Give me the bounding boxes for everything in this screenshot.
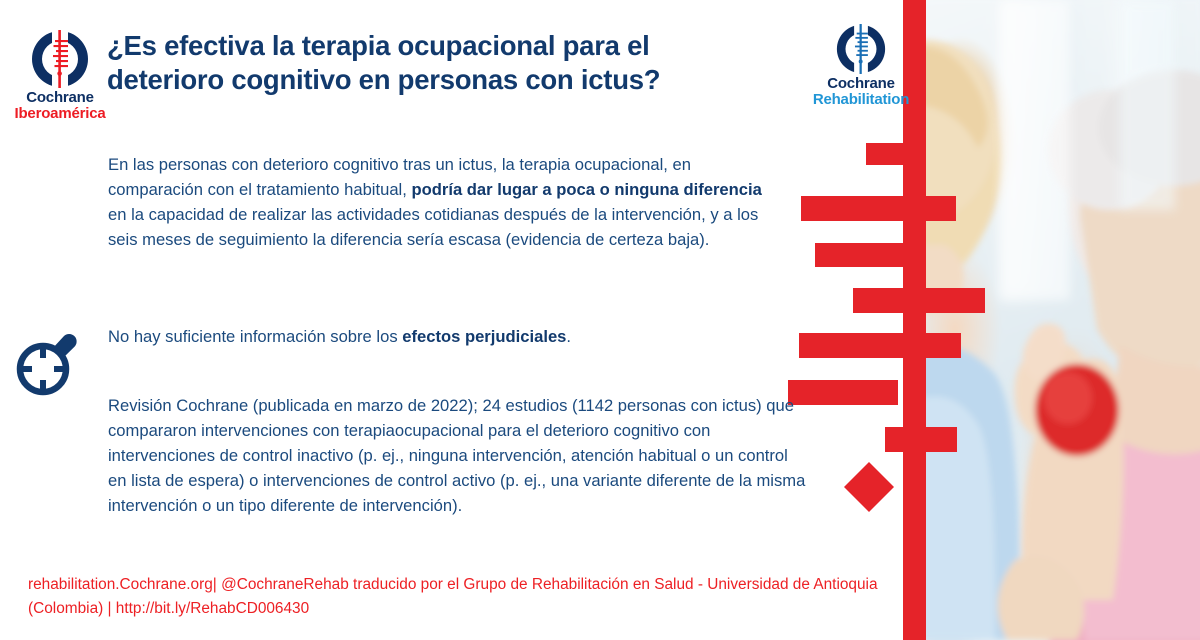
- cochrane-logo-icon: [830, 22, 892, 76]
- target-crosshair-icon: [12, 325, 86, 404]
- warning-triangle-icon: [12, 636, 86, 640]
- cochrane-rehabilitation-logo: Cochrane Rehabilitation: [806, 22, 916, 108]
- section-findings-text: En las personas con deterioro cognitivo …: [108, 153, 778, 253]
- page-title: ¿Es efectiva la terapia ocupacional para…: [107, 29, 767, 97]
- section-harms-text: No hay suficiente información sobre los …: [108, 325, 788, 350]
- logo-line-1: Cochrane: [14, 90, 106, 106]
- logo-line-2: Rehabilitation: [806, 92, 916, 108]
- photo-panel: [905, 0, 1200, 640]
- footer-credits: rehabilitation.Cochrane.org| @CochraneRe…: [28, 573, 878, 621]
- cochrane-logo-icon: [24, 28, 96, 90]
- section-review-details-text: Revisión Cochrane (publicada en marzo de…: [108, 394, 808, 518]
- cochrane-iberoamerica-logo: Cochrane Iberoamérica: [14, 28, 106, 122]
- logo-line-2: Iberoamérica: [14, 106, 106, 122]
- content-area: Cochrane Iberoamérica ¿Es efectiva la te…: [0, 0, 905, 640]
- infographic-page: Cochrane Iberoamérica ¿Es efectiva la te…: [0, 0, 1200, 640]
- logo-line-1: Cochrane: [806, 76, 916, 92]
- photo-figures: [905, 0, 1200, 640]
